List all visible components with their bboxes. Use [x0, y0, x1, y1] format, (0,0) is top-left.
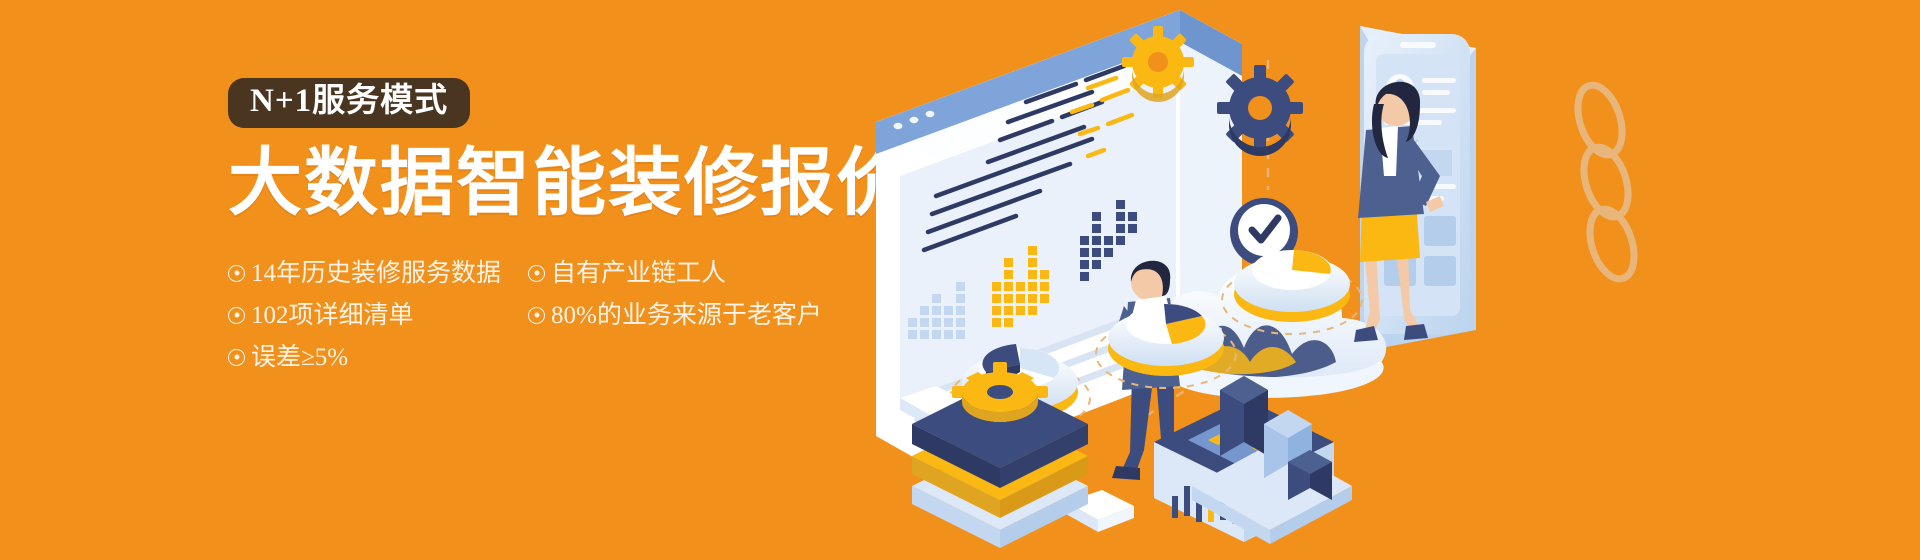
circle-dot-icon [228, 307, 245, 324]
list-item: 80%的业务来源于老客户 [528, 300, 848, 331]
list-item-label: 自有产业链工人 [551, 258, 726, 289]
promo-banner: N+1服务模式 大数据智能装修报价 14年历史装修服务数据 自有产业链工人 10… [0, 0, 1920, 560]
list-item: 14年历史装修服务数据 [228, 258, 528, 289]
isometric-illustration [840, 0, 1920, 560]
list-item-label: 102项详细清单 [251, 300, 414, 331]
circle-dot-icon [228, 349, 245, 366]
service-mode-badge: N+1服务模式 [228, 78, 470, 128]
list-item-label: 14年历史装修服务数据 [251, 258, 501, 289]
circle-dot-icon [528, 307, 545, 324]
list-item: 102项详细清单 [228, 300, 528, 331]
list-item-label: 误差≥5% [251, 342, 348, 373]
list-item: 自有产业链工人 [528, 258, 848, 289]
circle-dot-icon [228, 265, 245, 282]
circle-dot-icon [528, 265, 545, 282]
list-item-label: 80%的业务来源于老客户 [551, 300, 822, 331]
decorative-rings [1570, 80, 1642, 285]
list-item: 误差≥5% [228, 342, 528, 373]
